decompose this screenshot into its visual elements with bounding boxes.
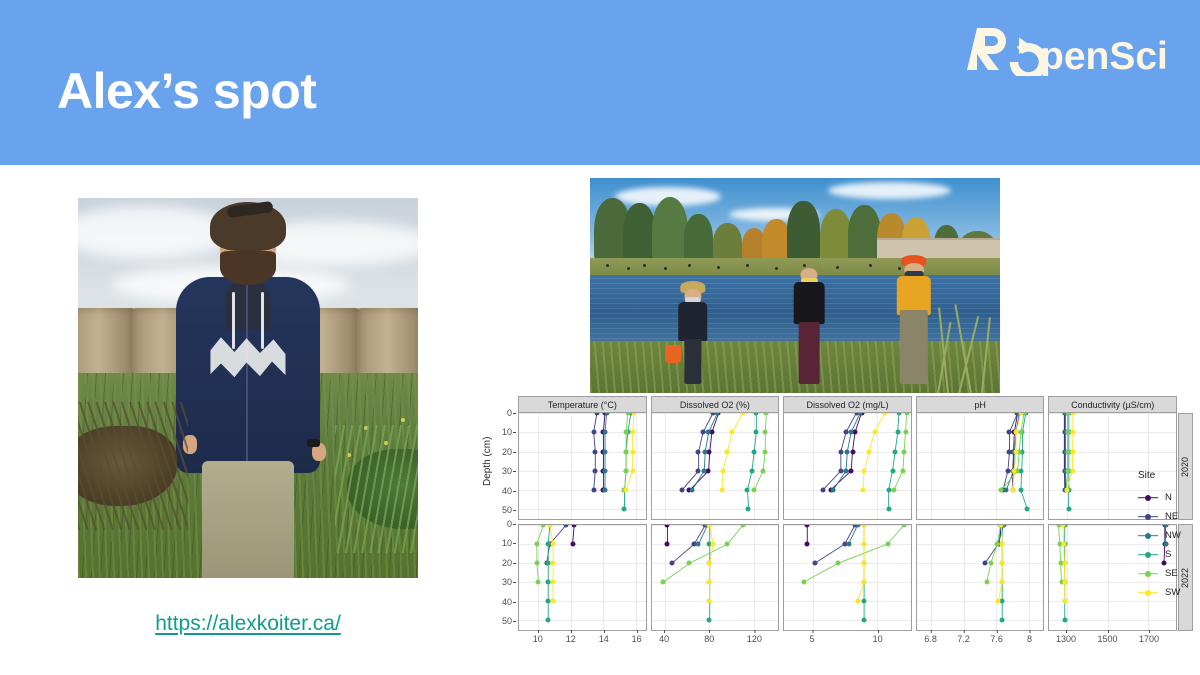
data-point-NE xyxy=(696,468,701,473)
series-lines xyxy=(652,525,779,630)
y-tick-label: 20 xyxy=(502,447,512,457)
x-tick-label: 6.8 xyxy=(924,634,937,644)
data-point-NE xyxy=(696,449,701,454)
y-tick-label: 0 xyxy=(507,408,512,418)
data-point-SW xyxy=(1000,561,1005,566)
data-point-SW xyxy=(1063,580,1068,585)
data-point-NW xyxy=(845,449,850,454)
data-point-NW xyxy=(844,468,849,473)
data-point-SW xyxy=(1000,542,1005,547)
x-tick-label: 10 xyxy=(533,634,543,644)
root-clump-green xyxy=(347,449,418,529)
x-tick-label: 1500 xyxy=(1097,634,1117,644)
facet-column-3: Dissolved O2 (mg/L)510 xyxy=(783,396,912,647)
data-point-NE xyxy=(982,561,987,566)
slide-header: Alex’s spot penSci xyxy=(0,0,1200,165)
x-tick-label: 7.2 xyxy=(957,634,970,644)
data-point-SE xyxy=(885,542,890,547)
website-link[interactable]: https://alexkoiter.ca/ xyxy=(0,612,496,636)
data-point-S xyxy=(1063,618,1068,623)
facet-column-1: Temperature (°C)10121416 xyxy=(518,396,647,647)
data-point-SE xyxy=(534,561,539,566)
x-axis-ticks: 6.87.27.68 xyxy=(916,631,1045,647)
data-point-NW xyxy=(849,430,854,435)
data-point-NW xyxy=(1004,488,1009,493)
x-tick-label: 16 xyxy=(632,634,642,644)
data-point-SW xyxy=(1063,599,1068,604)
legend-key-swatch xyxy=(1138,512,1158,522)
series-lines xyxy=(652,413,779,519)
panel-2020-3 xyxy=(783,413,912,520)
legend-title: Site xyxy=(1138,470,1181,481)
data-point-SW xyxy=(1070,449,1075,454)
data-point-S xyxy=(862,618,867,623)
x-tick-label: 80 xyxy=(704,634,714,644)
data-point-SW xyxy=(862,561,867,566)
legend-item-S: S xyxy=(1138,545,1181,564)
data-point-SW xyxy=(862,468,867,473)
legend-label: N xyxy=(1165,492,1172,503)
facet-row-label: 2022 xyxy=(1181,567,1191,587)
data-point-NE xyxy=(593,468,598,473)
data-point-SW xyxy=(860,488,865,493)
x-axis-ticks: 130015001700 xyxy=(1048,631,1177,647)
data-point-S xyxy=(622,507,627,512)
data-point-SW xyxy=(551,599,556,604)
data-point-SE xyxy=(984,580,989,585)
y-tick-label: 40 xyxy=(502,597,512,607)
facet-strip-label: Dissolved O2 (mg/L) xyxy=(783,396,912,413)
data-point-SW xyxy=(1062,542,1067,547)
data-point-N xyxy=(849,468,854,473)
x-tick-label: 12 xyxy=(566,634,576,644)
data-point-SW xyxy=(707,580,712,585)
x-axis-ticks: 10121416 xyxy=(518,631,647,647)
data-point-S xyxy=(1066,507,1071,512)
data-point-SE xyxy=(536,580,541,585)
legend-key-swatch xyxy=(1138,588,1158,598)
data-point-S xyxy=(745,488,750,493)
data-point-SW xyxy=(1065,488,1070,493)
data-point-N xyxy=(665,542,670,547)
x-tick-label: 14 xyxy=(599,634,609,644)
cattail-grass xyxy=(930,303,996,393)
site-legend: Site NNENWSSESW xyxy=(1138,470,1181,602)
data-point-SE xyxy=(534,542,539,547)
series-lines xyxy=(917,525,1044,630)
data-point-SE xyxy=(725,542,730,547)
data-point-SW xyxy=(1062,561,1067,566)
data-point-SW xyxy=(707,561,712,566)
y-tick-label: 50 xyxy=(502,616,512,626)
data-point-SE xyxy=(751,488,756,493)
data-point-N xyxy=(706,468,711,473)
data-point-SW xyxy=(862,542,867,547)
data-point-N xyxy=(707,449,712,454)
pond-photo xyxy=(590,178,1000,393)
y-axis-ticks-2020: 01020304050 xyxy=(482,413,515,520)
data-point-S xyxy=(890,468,895,473)
data-point-S xyxy=(1018,488,1023,493)
data-point-NE xyxy=(1007,430,1012,435)
legend-label: S xyxy=(1165,549,1171,560)
legend-label: NW xyxy=(1165,530,1181,541)
panel-2020-4 xyxy=(916,413,1045,520)
facet-strip-label: Conductivity (µS/cm) xyxy=(1048,396,1177,413)
data-point-S xyxy=(886,507,891,512)
data-point-N xyxy=(805,542,810,547)
data-point-S xyxy=(895,430,900,435)
data-point-SE xyxy=(624,430,629,435)
data-point-SE xyxy=(687,561,692,566)
data-point-SW xyxy=(1013,449,1018,454)
panel-2022-3 xyxy=(783,524,912,631)
data-point-NW xyxy=(603,430,608,435)
series-lines xyxy=(519,525,646,630)
data-point-SW xyxy=(720,468,725,473)
data-point-SW xyxy=(710,542,715,547)
data-point-SW xyxy=(729,430,734,435)
data-point-SE xyxy=(902,449,907,454)
data-point-SE xyxy=(660,580,665,585)
data-point-SW xyxy=(1012,468,1017,473)
page-title: Alex’s spot xyxy=(57,66,316,116)
legend-key-swatch xyxy=(1138,550,1158,560)
y-tick-label: 0 xyxy=(507,519,512,529)
data-point-N xyxy=(850,449,855,454)
data-point-NW xyxy=(702,449,707,454)
legend-label: SW xyxy=(1165,587,1180,598)
portrait-photo xyxy=(78,198,418,578)
data-point-SW xyxy=(551,580,556,585)
data-point-SW xyxy=(872,430,877,435)
y-tick-label: 30 xyxy=(502,466,512,476)
data-point-S xyxy=(746,507,751,512)
data-point-S xyxy=(546,618,551,623)
x-axis-ticks: 510 xyxy=(783,631,912,647)
data-point-SW xyxy=(1013,430,1018,435)
data-point-SW xyxy=(1000,580,1005,585)
data-point-SW xyxy=(630,468,635,473)
facet-row-label: 2020 xyxy=(1181,456,1191,476)
data-point-NW xyxy=(846,542,851,547)
legend-item-NE: NE xyxy=(1138,507,1181,526)
data-point-SE xyxy=(760,468,765,473)
y-tick-label: 40 xyxy=(502,486,512,496)
legend-item-SW: SW xyxy=(1138,583,1181,602)
x-tick-label: 120 xyxy=(747,634,762,644)
y-tick-label: 30 xyxy=(502,577,512,587)
data-point-NE xyxy=(591,430,596,435)
data-point-NE xyxy=(839,449,844,454)
data-point-SW xyxy=(551,542,556,547)
data-point-NW xyxy=(696,542,701,547)
data-point-SE xyxy=(1065,430,1070,435)
panel-2020-1 xyxy=(518,413,647,520)
data-point-SE xyxy=(762,430,767,435)
legend-key-swatch xyxy=(1138,531,1158,541)
data-point-S xyxy=(862,599,867,604)
data-point-SW xyxy=(1070,468,1075,473)
x-tick-label: 10 xyxy=(873,634,883,644)
depth-profile-facet-chart: Depth (cm) 01020304050 01020304050 Tempe… xyxy=(482,396,1192,666)
data-point-SE xyxy=(836,561,841,566)
data-point-NE xyxy=(669,561,674,566)
series-lines xyxy=(917,413,1044,519)
data-point-SE xyxy=(892,488,897,493)
ropensci-logo: penSci xyxy=(967,24,1182,76)
data-point-NE xyxy=(1005,468,1010,473)
x-tick-label: 1300 xyxy=(1056,634,1076,644)
data-point-SW xyxy=(862,580,867,585)
facet-strip-label: Temperature (°C) xyxy=(518,396,647,413)
data-point-NE xyxy=(813,561,818,566)
data-point-SW xyxy=(1010,488,1015,493)
data-point-SE xyxy=(624,449,629,454)
data-point-S xyxy=(1000,618,1005,623)
person-figure xyxy=(166,202,329,578)
data-point-SE xyxy=(999,488,1004,493)
data-point-NE xyxy=(700,430,705,435)
data-point-SE xyxy=(1018,430,1023,435)
y-tick-label: 10 xyxy=(502,538,512,548)
panel-2022-4 xyxy=(916,524,1045,631)
y-tick-label: 50 xyxy=(502,505,512,515)
data-point-S xyxy=(707,618,712,623)
researcher-figure xyxy=(787,268,832,384)
data-point-SW xyxy=(1071,430,1076,435)
data-point-SW xyxy=(855,599,860,604)
data-point-NW xyxy=(831,488,836,493)
x-tick-label: 8 xyxy=(1027,634,1032,644)
x-axis-ticks: 4080120 xyxy=(651,631,780,647)
facet-strip-label: Dissolved O2 (%) xyxy=(651,396,780,413)
logo-wordmark: penSci xyxy=(1040,35,1168,76)
legend-label: SE xyxy=(1165,568,1178,579)
legend-label: NE xyxy=(1165,511,1178,522)
data-point-SW xyxy=(630,430,635,435)
data-point-SE xyxy=(801,580,806,585)
data-point-NW xyxy=(689,488,694,493)
facet-strip-label: pH xyxy=(916,396,1045,413)
y-tick-label: 20 xyxy=(502,558,512,568)
data-point-SW xyxy=(707,599,712,604)
facet-column-4: pH6.87.27.68 xyxy=(916,396,1045,647)
data-point-NW xyxy=(706,430,711,435)
legend-key-swatch xyxy=(1138,493,1158,503)
data-point-S xyxy=(751,449,756,454)
panel-2022-1 xyxy=(518,524,647,631)
data-point-NW xyxy=(701,468,706,473)
panel-2022-2 xyxy=(651,524,780,631)
data-point-SE xyxy=(762,449,767,454)
x-tick-label: 1700 xyxy=(1139,634,1159,644)
facet-panel-grid: Temperature (°C)10121416Dissolved O2 (%)… xyxy=(518,396,1177,647)
data-point-NW xyxy=(603,449,608,454)
data-point-NW xyxy=(603,468,608,473)
data-point-NE xyxy=(820,488,825,493)
x-tick-label: 5 xyxy=(810,634,815,644)
data-point-SW xyxy=(624,488,629,493)
data-point-NE xyxy=(593,449,598,454)
data-point-SE xyxy=(624,468,629,473)
data-point-S xyxy=(753,430,758,435)
facet-column-2: Dissolved O2 (%)4080120 xyxy=(651,396,780,647)
researcher-figure xyxy=(672,281,713,384)
x-tick-label: 7.6 xyxy=(990,634,1003,644)
data-point-SW xyxy=(867,449,872,454)
data-point-SW xyxy=(630,449,635,454)
legend-item-NW: NW xyxy=(1138,526,1181,545)
data-point-NE xyxy=(591,488,596,493)
data-point-SE xyxy=(988,561,993,566)
data-point-S xyxy=(893,449,898,454)
data-point-SW xyxy=(995,599,1000,604)
data-point-SW xyxy=(725,449,730,454)
x-tick-label: 40 xyxy=(659,634,669,644)
panel-2020-2 xyxy=(651,413,780,520)
root-clump-dry xyxy=(78,426,177,506)
y-tick-label: 10 xyxy=(502,427,512,437)
data-point-SE xyxy=(903,430,908,435)
data-point-SE xyxy=(901,468,906,473)
data-point-SW xyxy=(551,561,556,566)
data-point-S xyxy=(1025,507,1030,512)
data-point-NE xyxy=(679,488,684,493)
legend-key-swatch xyxy=(1138,569,1158,579)
data-point-SW xyxy=(719,488,724,493)
data-point-NW xyxy=(603,488,608,493)
data-point-S xyxy=(749,468,754,473)
series-lines xyxy=(784,413,911,519)
data-point-N xyxy=(570,542,575,547)
legend-item-N: N xyxy=(1138,488,1181,507)
legend-item-SE: SE xyxy=(1138,564,1181,583)
